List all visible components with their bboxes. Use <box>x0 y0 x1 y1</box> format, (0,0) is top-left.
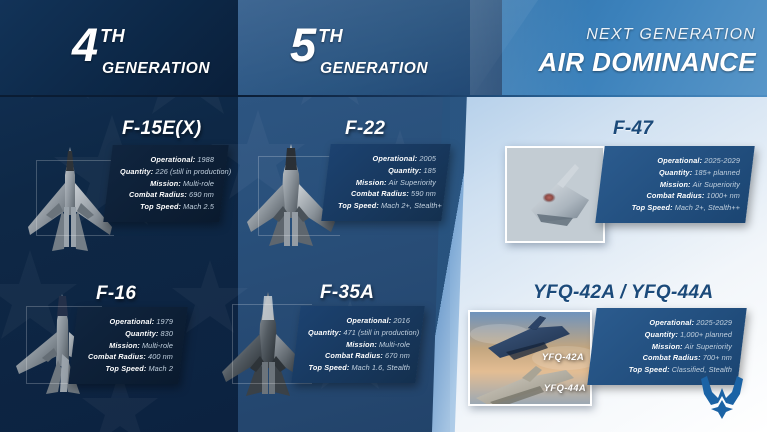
spec-row-quantity: Quantity: 185 <box>338 165 436 177</box>
header-4th-number: 4 <box>72 24 97 66</box>
frame-bracket-f-15ex <box>36 160 114 236</box>
header-5th-number: 5 <box>290 24 315 66</box>
spec-row-combat-radius: Combat Radius: 400 nm <box>85 351 173 363</box>
spec-row-quantity: Quantity: 185+ planned <box>612 167 740 179</box>
infographic-canvas: 4TH GENERATION 5TH GENERATION NEXT GENER… <box>0 0 767 432</box>
header-title-4th-generation: 4TH GENERATION <box>72 24 210 78</box>
header-title-5th-generation: 5TH GENERATION <box>290 24 428 78</box>
spec-row-operational: Operational: 2016 <box>308 315 410 327</box>
spec-row-top-speed: Top Speed: Mach 2.5 <box>120 201 214 213</box>
spec-row-top-speed: Top Speed: Mach 1.6, Stealth <box>308 362 410 374</box>
spec-row-mission: Mission: Air Superiority <box>604 341 732 353</box>
usaf-wings-logo-icon <box>691 372 753 420</box>
aircraft-image-yfq-drones: YFQ-42A YFQ-44A <box>468 310 592 406</box>
spec-row-mission: Mission: Multi-role <box>85 340 173 352</box>
spec-row-quantity: Quantity: 1,000+ planned <box>604 329 732 341</box>
spec-row-top-speed: Top Speed: Mach 2+, Stealth+ <box>338 200 436 212</box>
header-nextgen-line1: NEXT GENERATION <box>516 26 756 44</box>
header-4th-ordinal: TH <box>100 26 125 47</box>
spec-row-quantity: Quantity: 830 <box>85 328 173 340</box>
spec-box-f-15ex[interactable]: Operational: 1988 Quantity: 226 (still i… <box>103 145 228 222</box>
spec-row-quantity: Quantity: 471 (still in production) <box>308 327 410 339</box>
spec-row-combat-radius: Combat Radius: 1000+ nm <box>612 190 740 202</box>
spec-row-combat-radius: Combat Radius: 690 nm <box>120 189 214 201</box>
spec-row-combat-radius: Combat Radius: 700+ nm <box>604 352 732 364</box>
spec-box-f-22[interactable]: Operational: 2005 Quantity: 185 Mission:… <box>321 144 450 221</box>
aircraft-name-f-16: F-16 <box>96 283 136 305</box>
aircraft-name-f-15ex: F-15E(X) <box>122 118 201 140</box>
header-divider-rule <box>0 95 767 97</box>
aircraft-name-f-47: F-47 <box>613 118 653 140</box>
header-title-next-generation: NEXT GENERATION AIR DOMINANCE <box>516 26 756 78</box>
spec-row-quantity: Quantity: 226 (still in production) <box>120 166 214 178</box>
photo-label-yfq-42a: YFQ-42A <box>542 352 584 363</box>
spec-row-operational: Operational: 1979 <box>85 316 173 328</box>
header-5th-ordinal: TH <box>318 26 343 47</box>
header-nextgen-line2: AIR DOMINANCE <box>516 47 756 78</box>
spec-row-combat-radius: Combat Radius: 670 nm <box>308 350 410 362</box>
photo-label-yfq-44a: YFQ-44A <box>544 383 586 394</box>
spec-row-mission: Mission: Multi-role <box>308 339 410 351</box>
spec-row-operational: Operational: 2005 <box>338 153 436 165</box>
spec-row-mission: Mission: Air Superiority <box>338 177 436 189</box>
spec-row-mission: Mission: Multi-role <box>120 178 214 190</box>
spec-box-f-16[interactable]: Operational: 1979 Quantity: 830 Mission:… <box>68 307 187 384</box>
aircraft-name-yfq-42a-yfq-44a: YFQ-42A / YFQ-44A <box>533 282 713 304</box>
spec-row-top-speed: Top Speed: Mach 2 <box>85 363 173 375</box>
spec-box-f-35a[interactable]: Operational: 2016 Quantity: 471 (still i… <box>291 306 424 383</box>
aircraft-name-f-22: F-22 <box>345 118 385 140</box>
spec-row-operational: Operational: 1988 <box>120 154 214 166</box>
header-band: 4TH GENERATION 5TH GENERATION NEXT GENER… <box>0 0 767 97</box>
spec-row-combat-radius: Combat Radius: 590 nm <box>338 188 436 200</box>
aircraft-image-f-47 <box>505 146 605 243</box>
spec-row-operational: Operational: 2025-2029 <box>612 155 740 167</box>
spec-row-mission: Mission: Air Superiority <box>612 179 740 191</box>
spec-row-operational: Operational: 2025-2029 <box>604 317 732 329</box>
aircraft-name-f-35a: F-35A <box>320 282 374 304</box>
spec-row-top-speed: Top Speed: Mach 2+, Stealth++ <box>612 202 740 214</box>
spec-box-f-47[interactable]: Operational: 2025-2029 Quantity: 185+ pl… <box>595 146 754 223</box>
